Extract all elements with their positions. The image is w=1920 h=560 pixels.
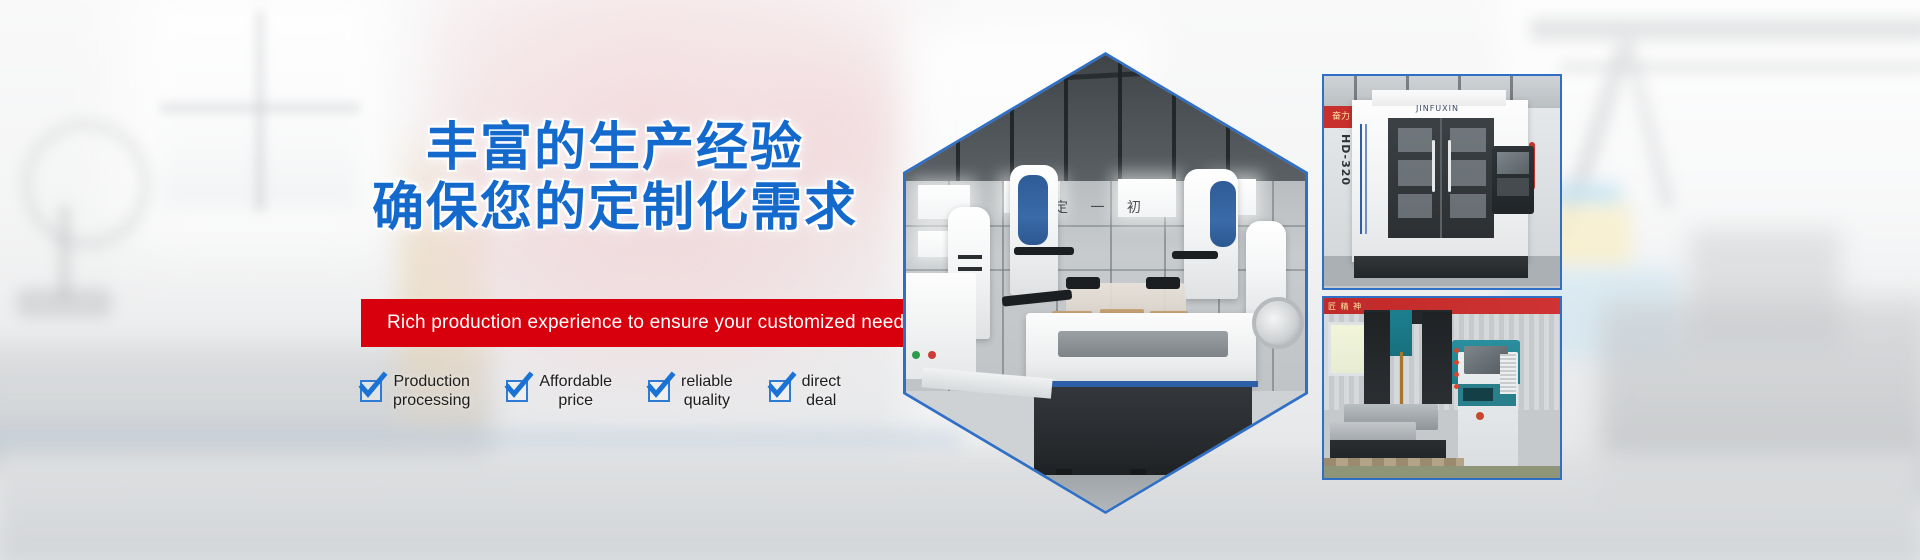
feature-label: Production processing	[393, 372, 470, 410]
feature-item: Affordable price	[506, 372, 612, 410]
headline-line-1: 丰富的生产经验	[355, 118, 875, 178]
feature-label: Affordable price	[539, 372, 612, 410]
feature-item: direct deal	[769, 372, 841, 410]
headline-line-2: 确保您的定制化需求	[355, 178, 875, 238]
promo-banner: 丰富的生产经验 确保您的定制化需求 Rich production experi…	[0, 0, 1920, 560]
checkbox-checked-icon	[769, 380, 791, 402]
checkbox-checked-icon	[648, 380, 670, 402]
headline-block: 丰富的生产经验 确保您的定制化需求	[355, 118, 875, 238]
side-photo-machining-center: 奋力 JINFUXIN HD-320	[1322, 74, 1562, 290]
feature-item: reliable quality	[648, 372, 733, 410]
feature-list: Production processing Affordable price r…	[360, 372, 877, 410]
feature-item: Production processing	[360, 372, 470, 410]
feature-label: direct deal	[802, 372, 841, 410]
hero-hexagon-image: 定 一 初	[903, 52, 1308, 514]
feature-label: reliable quality	[681, 372, 733, 410]
machine-model-label: HD-320	[1339, 134, 1352, 186]
checkbox-checked-icon	[506, 380, 528, 402]
machine-brand-label: JINFUXIN	[1416, 104, 1459, 113]
side-photo-edm-machine: 匠 精 神	[1322, 296, 1562, 480]
hexagon-photo: 定 一 初	[906, 55, 1305, 511]
subheadline-red-bar: Rich production experience to ensure you…	[361, 299, 905, 347]
side-photo-stack: 奋力 JINFUXIN HD-320	[1322, 74, 1562, 480]
subheadline-text: Rich production experience to ensure you…	[361, 312, 914, 334]
hexagon-wall-sign: 定 一 初	[1054, 197, 1150, 217]
checkbox-checked-icon	[360, 380, 382, 402]
